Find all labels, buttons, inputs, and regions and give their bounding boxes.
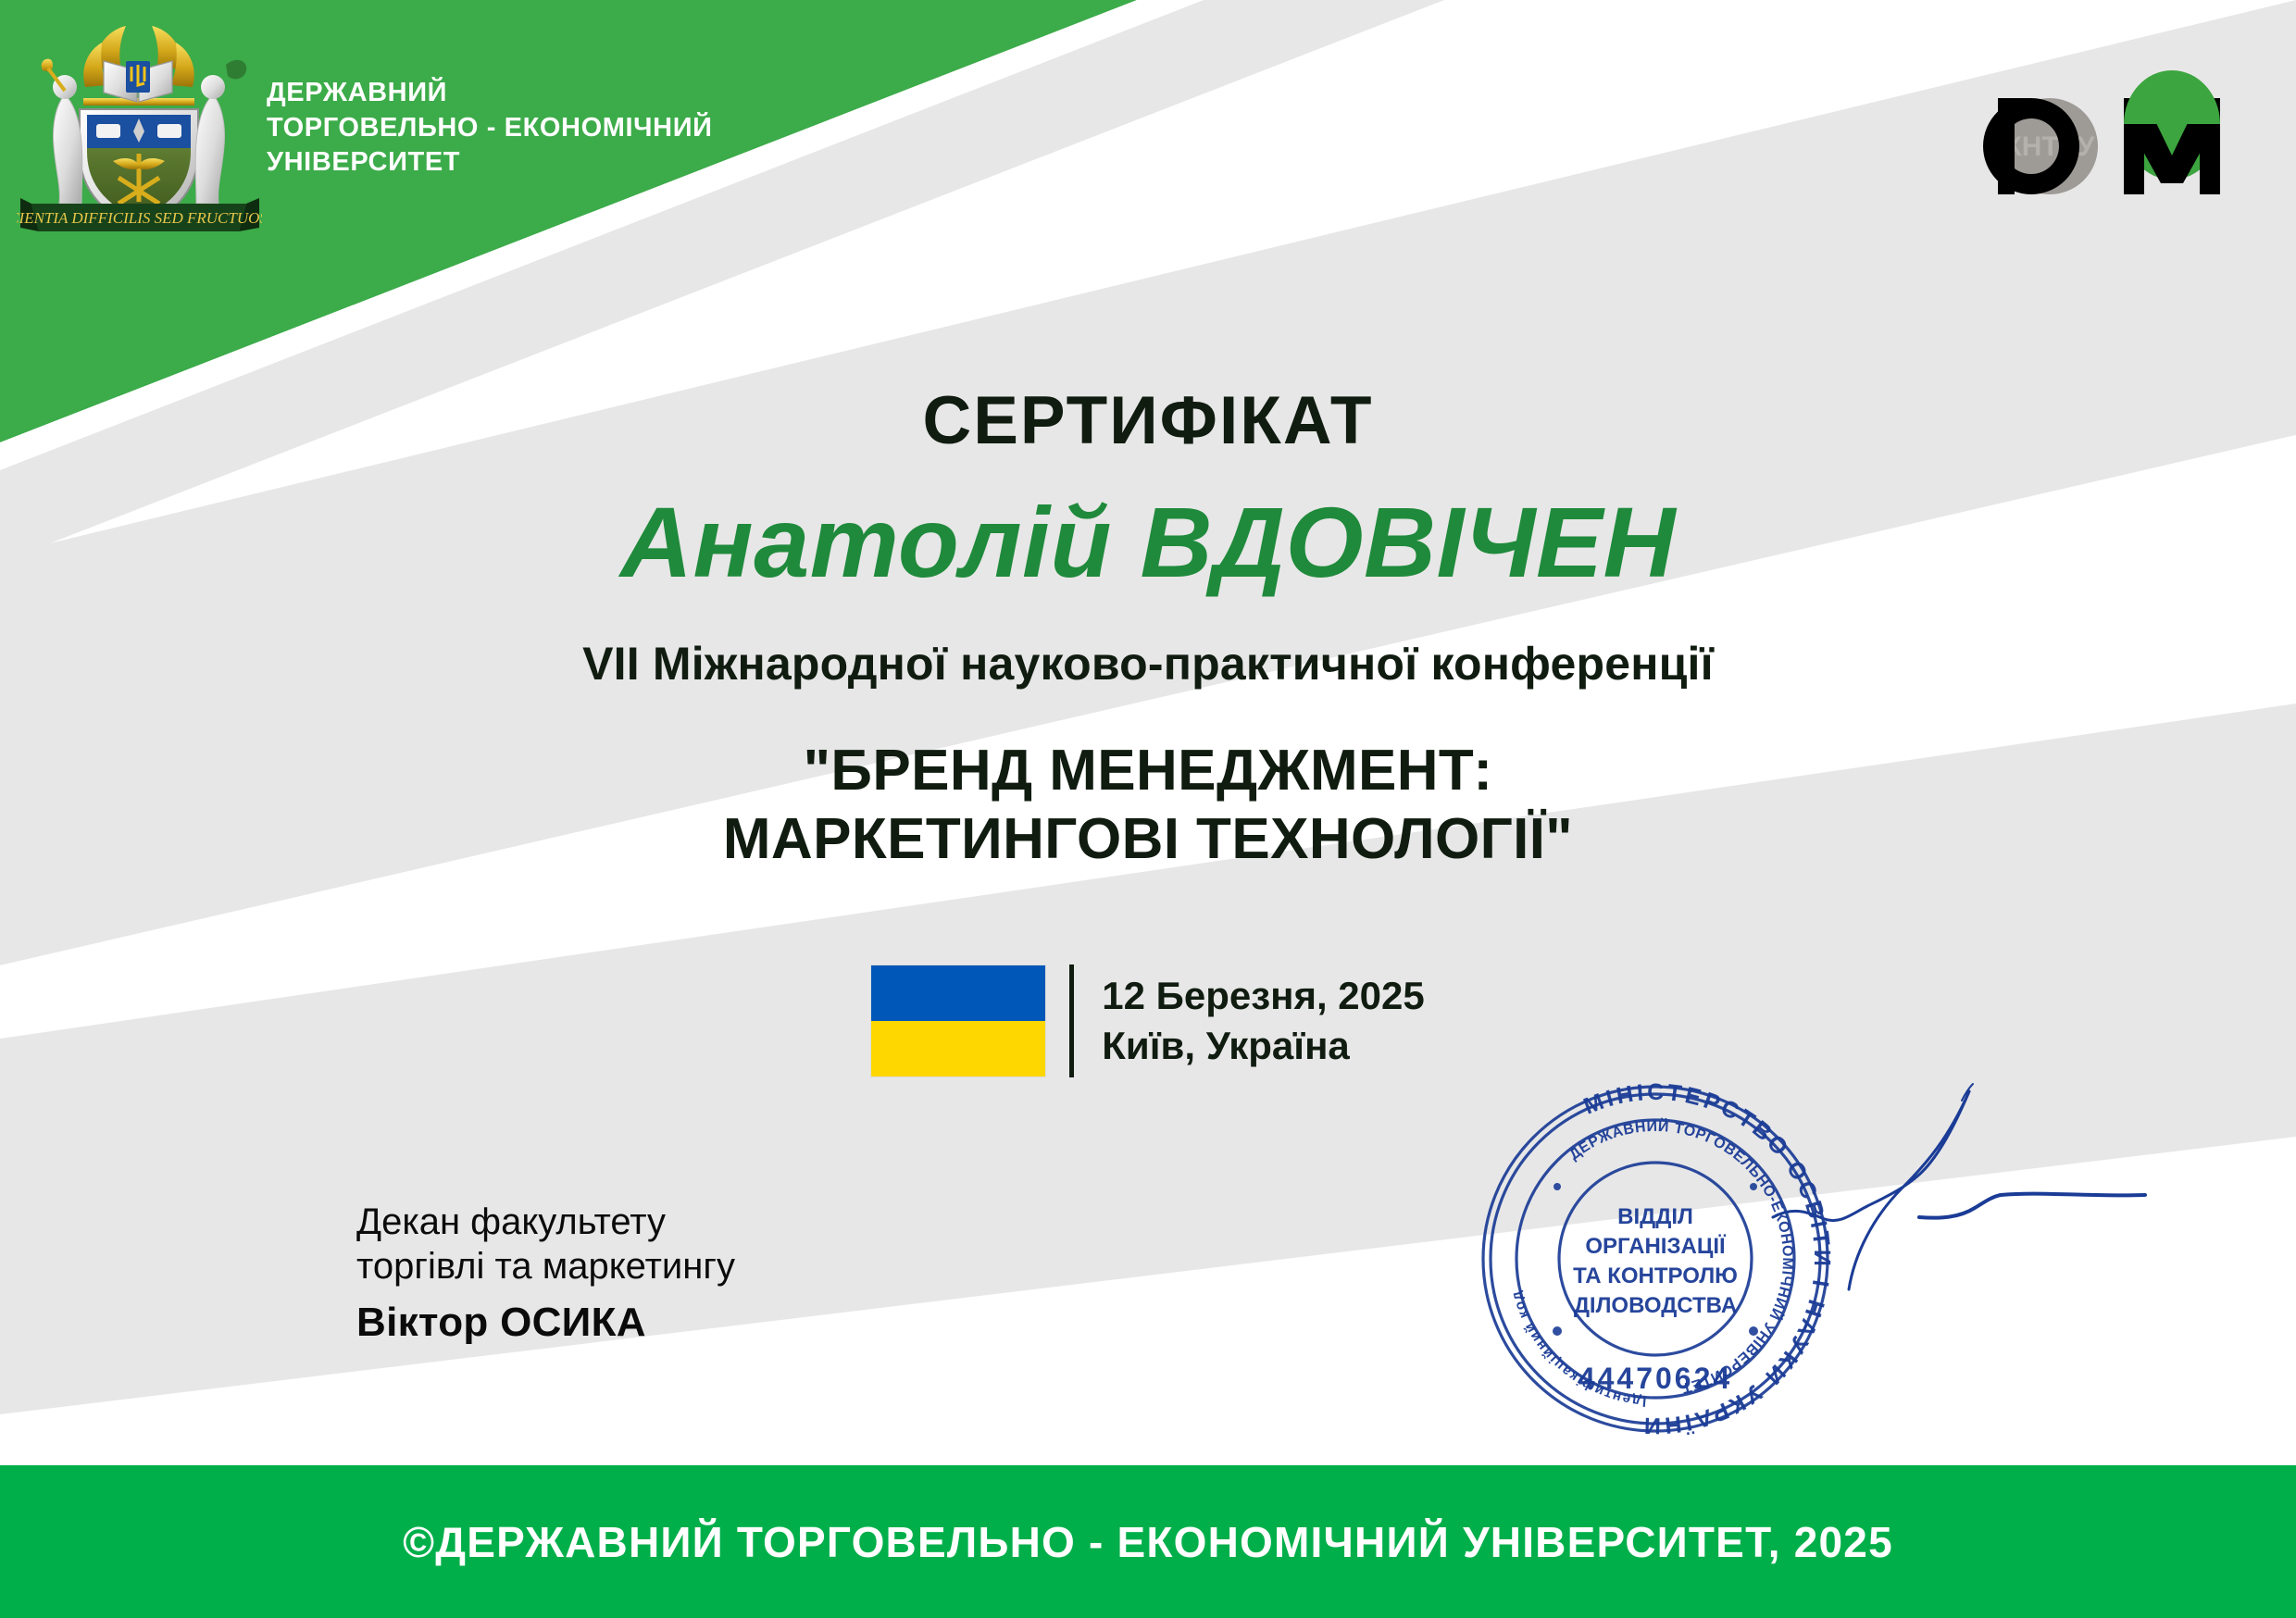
handwritten-signature-icon bbox=[1764, 1078, 2152, 1291]
svg-text:ТА КОНТРОЛЮ: ТА КОНТРОЛЮ bbox=[1573, 1263, 1738, 1288]
open-book-icon bbox=[104, 61, 172, 102]
knteu-label: КНТЕУ bbox=[2005, 131, 2095, 162]
stamp-center-text: ВІДДІЛ ОРГАНІЗАЦІЇ ТА КОНТРОЛЮ ДІЛОВОДСТ… bbox=[1573, 1204, 1738, 1318]
certificate-heading: СЕРТИФІКАТ bbox=[0, 387, 2296, 454]
signatory-block: Декан факультету торгівлі та маркетингу … bbox=[356, 1200, 735, 1346]
signatory-role: Декан факультету торгівлі та маркетингу bbox=[356, 1200, 735, 1288]
stamp-code-number: 44470624 bbox=[1578, 1362, 1732, 1395]
vertical-divider bbox=[1069, 965, 1074, 1077]
footer-copyright: ©ДЕРЖАВНИЙ ТОРГОВЕЛЬНО - ЕКОНОМІЧНИЙ УНІ… bbox=[403, 1517, 1893, 1567]
signatory-name: Віктор ОСИКА bbox=[356, 1300, 735, 1346]
certificate-canvas: SCIENTIA DIFFICILIS SED FRUCTUOSA ДЕРЖАВ… bbox=[0, 0, 2296, 1618]
ukraine-flag-icon bbox=[871, 965, 1045, 1077]
recipient-name: Анатолій ВДОВІЧЕН bbox=[0, 490, 2296, 594]
conference-title: "БРЕНД МЕНЕДЖМЕНТ: МАРКЕТИНГОВІ ТЕХНОЛОГ… bbox=[0, 737, 2296, 872]
footer-bar: ©ДЕРЖАВНИЙ ТОРГОВЕЛЬНО - ЕКОНОМІЧНИЙ УНІ… bbox=[0, 1465, 2296, 1618]
svg-text:ОРГАНІЗАЦІЇ: ОРГАНІЗАЦІЇ bbox=[1585, 1234, 1727, 1259]
date-location-bar: 12 Березня, 2025 Київ, Україна bbox=[0, 965, 2296, 1077]
date-location-text: 12 Березня, 2025 Київ, Україна bbox=[1102, 971, 1424, 1071]
conference-subtitle: VII Міжнародної науково-практичної конфе… bbox=[0, 637, 2296, 691]
coat-of-arms-icon: SCIENTIA DIFFICILIS SED FRUCTUOSA bbox=[17, 13, 262, 240]
flag-blue-stripe bbox=[871, 965, 1045, 1021]
svg-text:ДІЛОВОДСТВА: ДІЛОВОДСТВА bbox=[1574, 1293, 1737, 1318]
certificate-body: СЕРТИФІКАТ Анатолій ВДОВІЧЕН VII Міжнаро… bbox=[0, 387, 2296, 873]
university-name: ДЕРЖАВНИЙ ТОРГОВЕЛЬНО - ЕКОНОМІЧНИЙ УНІВ… bbox=[267, 76, 713, 180]
svg-text:ВІДДІЛ: ВІДДІЛ bbox=[1617, 1204, 1693, 1229]
flag-yellow-stripe bbox=[871, 1021, 1045, 1077]
m-green-overlay bbox=[2124, 70, 2220, 124]
um-brand-logo-icon: КНТЕУ bbox=[1961, 43, 2239, 195]
motto-text: SCIENTIA DIFFICILIS SED FRUCTUOSA bbox=[17, 209, 262, 227]
